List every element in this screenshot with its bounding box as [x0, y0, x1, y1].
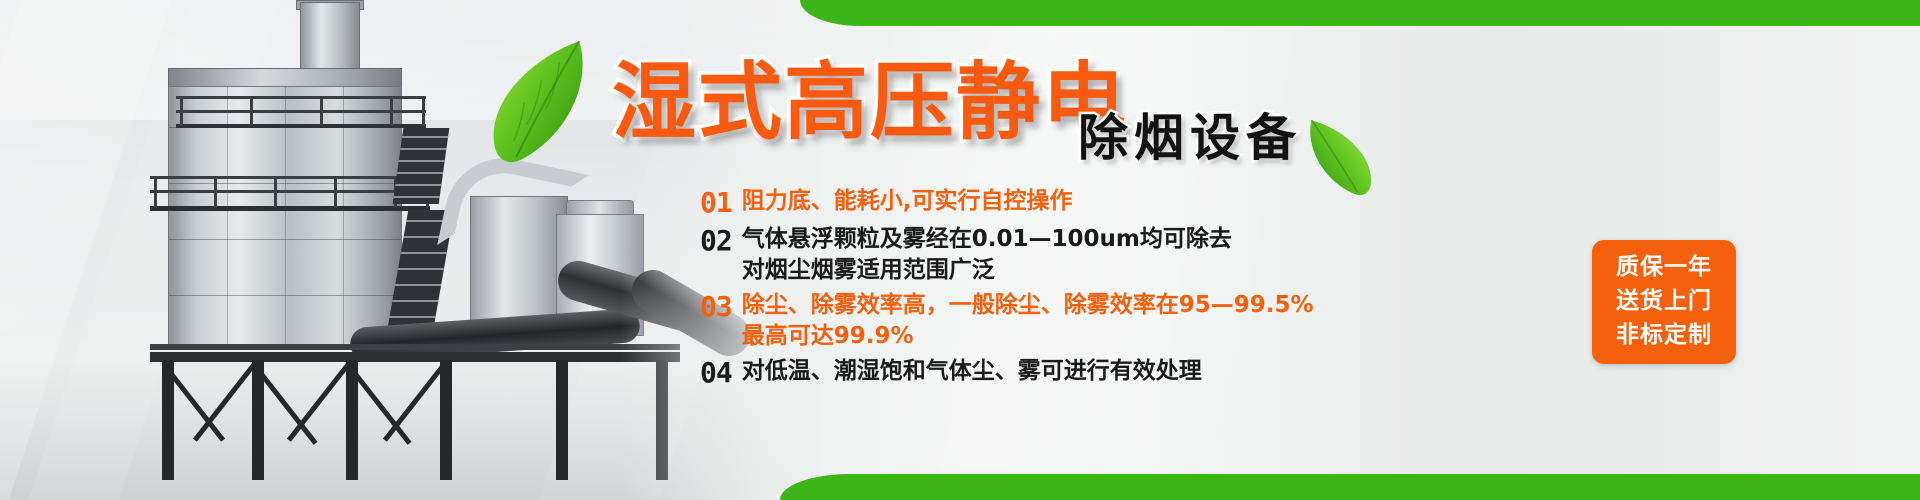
feature-line1: 阻力底、能耗小,可实行自控操作 — [742, 188, 1073, 214]
green-bar-top — [800, 0, 1920, 26]
page-title: 湿式高压静电 — [612, 58, 1128, 146]
feature-line1: 除尘、除雾效率高，一般除尘、除雾效率在95—99.5% — [742, 292, 1314, 318]
support-deck — [150, 352, 680, 362]
feature-number: 04 — [700, 356, 732, 390]
feature-number: 02 — [700, 224, 732, 258]
support-leg — [440, 360, 452, 480]
badge-line-1: 质保一年 — [1604, 250, 1724, 284]
page-subtitle: 除烟设备 — [1078, 110, 1302, 166]
feature-text: 对低温、潮湿饱和气体尘、雾可进行有效处理 — [742, 356, 1202, 387]
badge-line-3: 非标定制 — [1604, 318, 1724, 352]
promo-banner: 湿式高压静电 除烟设备 01 阻力底、能耗小,可实行自控操作 02 气体悬浮颗粒… — [0, 0, 1920, 500]
feature-item-01: 01 阻力底、能耗小,可实行自控操作 — [700, 186, 1300, 220]
platform-deck — [150, 206, 430, 211]
feature-text: 气体悬浮颗粒及雾经在0.01—100um均可除去 对烟尘烟雾适用范围广泛 — [742, 224, 1232, 286]
upper-rail — [176, 110, 426, 113]
feature-text: 阻力底、能耗小,可实行自控操作 — [742, 186, 1073, 217]
feature-line1: 对低温、潮湿饱和气体尘、雾可进行有效处理 — [742, 358, 1202, 384]
feature-line2: 最高可达99.9% — [742, 321, 1314, 352]
feature-item-04: 04 对低温、潮湿饱和气体尘、雾可进行有效处理 — [700, 356, 1300, 390]
upper-rail — [176, 96, 426, 99]
platform-rail — [150, 176, 430, 179]
feature-line1: 气体悬浮颗粒及雾经在0.01—100um均可除去 — [742, 226, 1232, 252]
badge-line-2: 送货上门 — [1604, 284, 1724, 318]
green-bar-bottom — [780, 474, 1920, 500]
guarantee-badge[interactable]: 质保一年 送货上门 非标定制 — [1592, 240, 1736, 364]
leaf-icon — [1289, 116, 1390, 202]
upper-deck — [176, 124, 426, 128]
feature-item-03: 03 除尘、除雾效率高，一般除尘、除雾效率在95—99.5% 最高可达99.9% — [700, 290, 1300, 352]
feature-number: 01 — [700, 186, 732, 220]
support-leg — [556, 360, 568, 480]
access-ladder — [393, 128, 450, 204]
feature-list: 01 阻力底、能耗小,可实行自控操作 02 气体悬浮颗粒及雾经在0.01—100… — [700, 186, 1300, 394]
feature-text: 除尘、除雾效率高，一般除尘、除雾效率在95—99.5% 最高可达99.9% — [742, 290, 1314, 352]
feature-line2: 对烟尘烟雾适用范围广泛 — [742, 255, 1232, 286]
feature-item-02: 02 气体悬浮颗粒及雾经在0.01—100um均可除去 对烟尘烟雾适用范围广泛 — [700, 224, 1300, 286]
feature-number: 03 — [700, 290, 732, 324]
support-deck — [150, 344, 680, 350]
platform-rail — [150, 190, 430, 193]
